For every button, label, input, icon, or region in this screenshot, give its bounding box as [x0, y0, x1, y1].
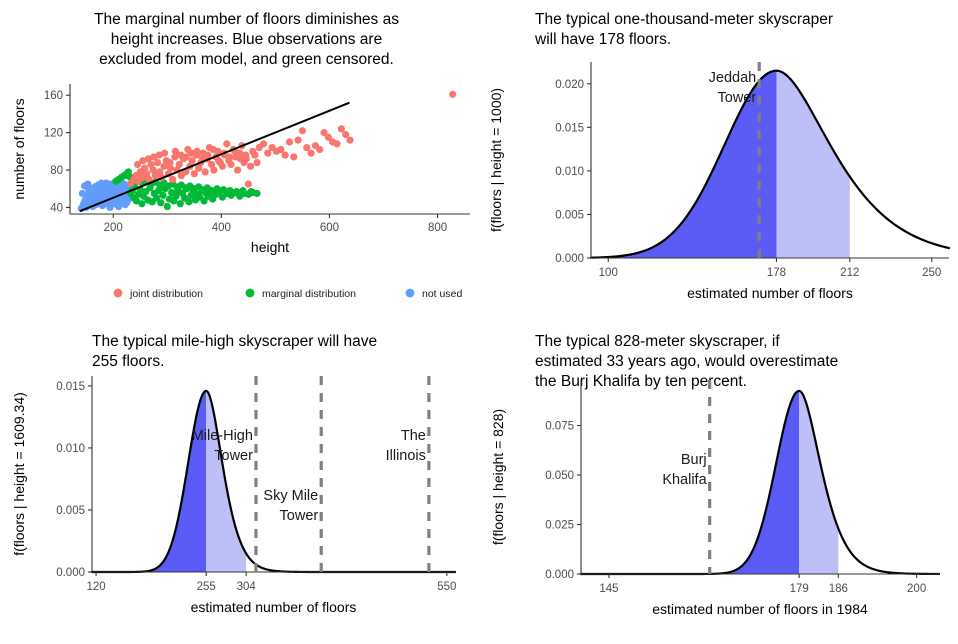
- figure-grid: The marginal number of floors diminishes…: [0, 0, 958, 644]
- y-tick-label: 40: [50, 202, 63, 214]
- x-tick-label: 186: [829, 583, 848, 595]
- legend-marker: [246, 289, 255, 298]
- scatter-point: [234, 166, 241, 173]
- scatter-point: [260, 140, 267, 147]
- annotation-label: The: [401, 428, 426, 444]
- scatter-point: [299, 127, 306, 134]
- y-tick-label: 0.015: [555, 122, 584, 134]
- legend-label: joint distribution: [129, 288, 203, 300]
- x-tick-label: 212: [840, 267, 859, 279]
- legend-marker: [406, 289, 415, 298]
- y-tick-label: 0.005: [56, 505, 85, 517]
- legend-label: marginal distribution: [262, 288, 356, 300]
- x-tick-label: 100: [599, 267, 618, 279]
- scatter-point: [79, 190, 86, 197]
- scatter-point: [166, 159, 173, 166]
- density-curve: [92, 391, 455, 572]
- scatter-point: [185, 198, 192, 205]
- y-tick-label: 0.000: [545, 569, 574, 581]
- panel-milehigh: The typical mile-high skyscraper will ha…: [0, 322, 479, 644]
- scatter-point: [286, 138, 293, 145]
- x-tick-label: 120: [86, 581, 105, 593]
- y-axis-title: number of floors: [11, 98, 27, 199]
- annotation-label: Tower: [718, 90, 757, 106]
- scatter-point: [333, 140, 340, 147]
- scatter-point: [215, 157, 222, 164]
- scatter-point: [233, 188, 240, 195]
- scatter-point: [247, 163, 254, 170]
- y-tick-label: 120: [44, 128, 63, 140]
- scatter-point: [282, 151, 289, 158]
- x-tick-label: 550: [437, 581, 456, 593]
- scatter-point: [106, 202, 113, 209]
- scatter-point: [227, 161, 234, 168]
- annotation-label: Khalifa: [662, 472, 707, 488]
- y-axis-title: f(floors | height = 1000): [488, 88, 504, 232]
- y-tick-label: 0.075: [545, 421, 574, 433]
- scatter-point: [164, 203, 171, 210]
- x-tick-label: 304: [237, 581, 257, 593]
- y-tick-label: 0.020: [555, 79, 584, 91]
- panel-scatter-canvas: 4080120160200400600800heightnumber of fl…: [0, 0, 479, 322]
- x-axis-title: estimated number of floors: [687, 285, 853, 301]
- x-axis-title: estimated number of floors in 1984: [652, 601, 868, 617]
- x-axis-title: estimated number of floors: [191, 599, 357, 615]
- scatter-point: [245, 180, 252, 187]
- scatter-point: [449, 91, 456, 98]
- scatter-point: [138, 200, 145, 207]
- panel-scatter: The marginal number of floors diminishes…: [0, 0, 479, 322]
- scatter-point: [226, 187, 233, 194]
- scatter-point: [213, 185, 220, 192]
- annotation-label: Tower: [280, 508, 319, 524]
- x-axis-title: height: [251, 239, 289, 255]
- scatter-point: [247, 188, 254, 195]
- scatter-point: [210, 146, 217, 153]
- y-tick-label: 0.000: [56, 567, 85, 579]
- x-tick-label: 179: [790, 583, 809, 595]
- panel-1000m-canvas: 0.0000.0050.0100.0150.020100178212250est…: [479, 0, 958, 322]
- density-fill-dark: [92, 391, 206, 572]
- y-axis-title: f(floors | height = 1609.34): [11, 392, 27, 556]
- scatter-point: [111, 187, 118, 194]
- annotation-label: Mile-High: [192, 428, 253, 444]
- scatter-point: [93, 189, 100, 196]
- y-tick-label: 160: [44, 90, 63, 102]
- scatter-point: [202, 168, 209, 175]
- scatter-point: [251, 151, 258, 158]
- annotation-label: Tower: [214, 448, 253, 464]
- scatter-point: [226, 153, 233, 160]
- density-fill-light: [799, 391, 838, 574]
- density-fill-light: [776, 71, 849, 258]
- y-tick-label: 0.050: [545, 470, 574, 482]
- scatter-point: [159, 192, 166, 199]
- y-tick-label: 0.000: [555, 253, 584, 265]
- scatter-point: [295, 137, 302, 144]
- scatter-point: [102, 186, 109, 193]
- annotation-label: Jeddah: [709, 70, 757, 86]
- x-tick-label: 600: [320, 222, 339, 234]
- scatter-point: [253, 159, 260, 166]
- y-axis-title: f(floors | height = 828): [490, 409, 506, 545]
- scatter-point: [307, 150, 314, 157]
- scatter-point: [193, 148, 200, 155]
- scatter-point: [220, 186, 227, 193]
- panel-milehigh-canvas: 0.0000.0050.0100.015120255304550estimate…: [0, 322, 479, 644]
- scatter-point: [169, 176, 176, 183]
- y-tick-label: 0.005: [555, 209, 584, 221]
- y-tick-label: 0.015: [56, 381, 85, 393]
- scatter-point: [242, 151, 249, 158]
- x-tick-label: 250: [922, 267, 941, 279]
- x-tick-label: 255: [197, 581, 216, 593]
- scatter-point: [316, 146, 323, 153]
- scatter-point: [290, 153, 297, 160]
- y-tick-label: 80: [50, 165, 63, 177]
- scatter-point: [123, 199, 130, 206]
- scatter-point: [113, 201, 120, 208]
- x-tick-label: 145: [599, 583, 618, 595]
- x-tick-label: 400: [212, 222, 231, 234]
- scatter-point: [210, 166, 217, 173]
- annotation-label: Burj: [681, 452, 707, 468]
- scatter-series-not-used: [78, 180, 133, 212]
- legend-marker: [114, 289, 123, 298]
- panel-828m-canvas: 0.0000.0250.0500.075145179186200estimate…: [479, 322, 958, 644]
- scatter-point: [84, 180, 91, 187]
- x-tick-label: 200: [907, 583, 926, 595]
- panel-828m: The typical 828-meter skyscraper, if est…: [479, 322, 958, 644]
- y-tick-label: 0.010: [56, 443, 85, 455]
- scatter-point: [161, 150, 168, 157]
- x-tick-label: 800: [428, 222, 447, 234]
- x-tick-label: 200: [104, 222, 123, 234]
- panel-1000m: The typical one-thousand-meter skyscrape…: [479, 0, 958, 322]
- scatter-point: [223, 140, 230, 147]
- x-tick-label: 178: [767, 267, 786, 279]
- annotation-label: Illinois: [386, 448, 426, 464]
- annotation-label: Sky Mile: [263, 488, 318, 504]
- y-tick-label: 0.010: [555, 166, 584, 178]
- scatter-point: [239, 187, 246, 194]
- legend-label: not used: [422, 288, 462, 300]
- y-tick-label: 0.025: [545, 520, 574, 532]
- scatter-point: [346, 137, 353, 144]
- scatter-point: [157, 199, 164, 206]
